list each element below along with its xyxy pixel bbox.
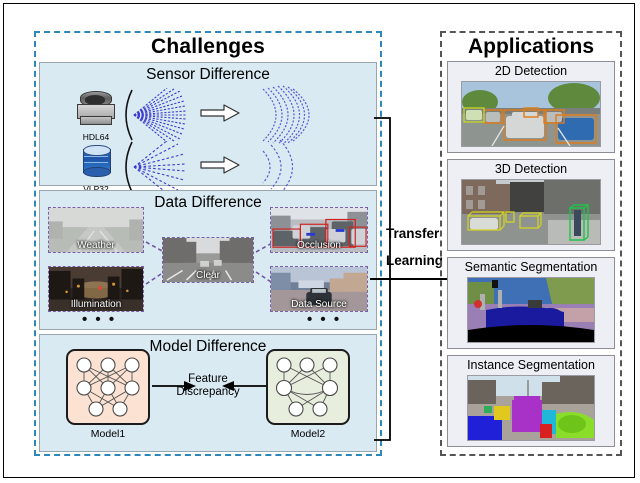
sensor-difference-section: Sensor Difference HDL64	[39, 62, 377, 186]
sensor-row-hdl64: HDL64	[40, 89, 376, 141]
application-card-instance-segmentation: Instance Segmentation	[447, 355, 615, 447]
data-ellipsis-left: • • •	[82, 316, 116, 324]
model2-network-card	[266, 349, 350, 425]
data-ellipsis-right: • • •	[307, 316, 341, 324]
data-thumb-clear-label: Clear	[163, 270, 253, 281]
data-thumb-illumination-label: Illumination	[49, 299, 143, 310]
lidar-hdl64-icon: HDL64	[68, 89, 124, 141]
application-title-instance-segmentation: Instance Segmentation	[448, 358, 614, 372]
data-thumb-clear: Clear	[162, 237, 254, 283]
data-thumb-data-source: Data Source	[270, 266, 368, 312]
application-title-3d-detection: 3D Detection	[448, 162, 614, 176]
neural-net-diagram	[268, 351, 348, 423]
application-title-semantic-segmentation: Semantic Segmentation	[448, 260, 614, 274]
transfer-label-line1: Transfer	[386, 226, 439, 241]
feature-discrepancy-label: Feature Discrepancy	[162, 373, 254, 399]
block-arrow-right-icon	[200, 155, 240, 175]
data-thumb-occlusion-label: Occlusion	[271, 240, 367, 251]
challenges-title: Challenges	[34, 33, 382, 60]
applications-title: Applications	[440, 33, 622, 60]
application-card-3d-detection: 3D Detection	[447, 159, 615, 251]
figure-frame: Challenges Sensor Difference HDL64	[3, 3, 635, 478]
application-image-semantic-segmentation	[467, 277, 595, 343]
model1-label: Model1	[66, 428, 150, 440]
transfer-label-line2: Learning	[386, 253, 443, 268]
neural-net-diagram	[68, 351, 148, 423]
sensor-difference-title: Sensor Difference	[40, 66, 376, 84]
application-image-instance-segmentation	[467, 375, 595, 441]
application-card-2d-detection: 2D Detection	[447, 61, 615, 153]
application-image-2d-detection	[461, 81, 601, 147]
lidar-beams-dense-icon	[122, 88, 192, 142]
application-card-semantic-segmentation: Semantic Segmentation	[447, 257, 615, 349]
data-thumb-data-source-label: Data Source	[271, 299, 367, 310]
model1-network-card	[66, 349, 150, 425]
lidar-vlp32-icon: VLP32	[68, 141, 124, 193]
data-thumb-occlusion: Occlusion	[270, 207, 368, 253]
model2-label: Model2	[266, 428, 350, 440]
lidar-beams-sparse-icon	[122, 140, 192, 194]
block-arrow-right-icon	[200, 103, 240, 123]
application-image-3d-detection	[461, 179, 601, 245]
data-thumb-weather-label: Weather	[49, 240, 143, 251]
data-thumb-weather: Weather	[48, 207, 144, 253]
data-thumb-illumination: Illumination	[48, 266, 144, 312]
sensor-row-vlp32: VLP32	[40, 141, 376, 193]
application-title-2d-detection: 2D Detection	[448, 64, 614, 78]
